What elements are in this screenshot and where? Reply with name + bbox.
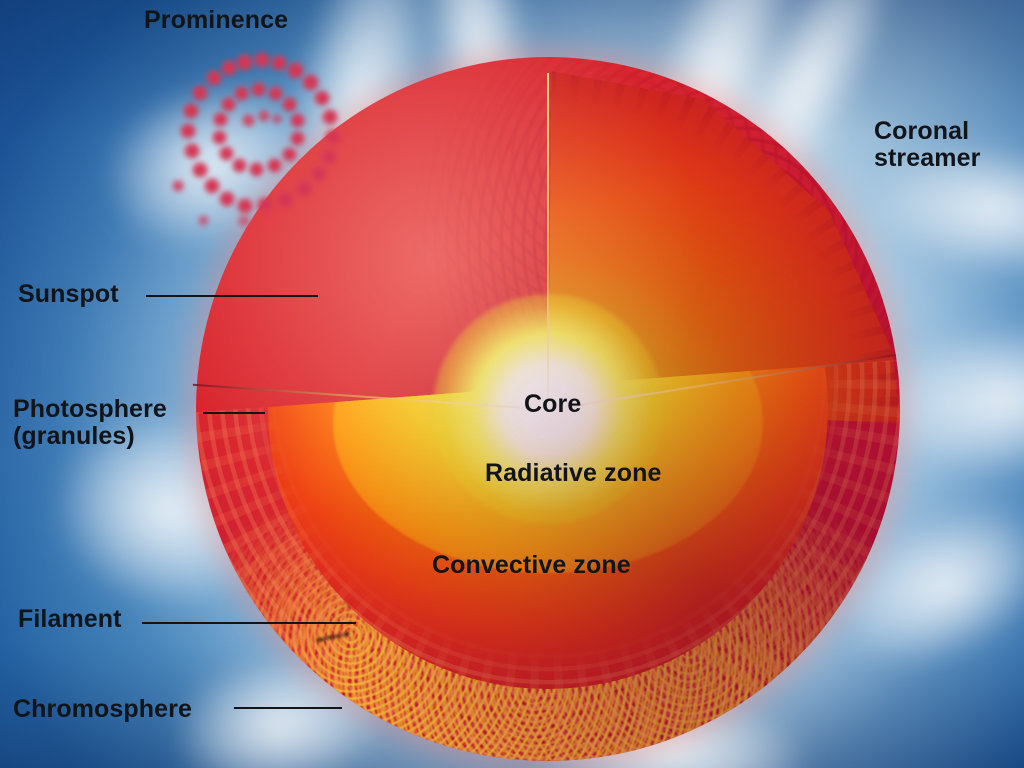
label-photosphere-line2: (granules) (13, 423, 167, 450)
label-core: Core (524, 391, 581, 418)
label-photosphere: Photosphere (granules) (13, 396, 167, 450)
label-filament: Filament (18, 606, 122, 633)
leader-line-chromosphere (234, 707, 342, 709)
label-chromosphere: Chromosphere (13, 696, 192, 723)
label-convective-zone: Convective zone (432, 552, 631, 579)
label-prominence: Prominence (144, 7, 288, 34)
leader-line-sunspot (146, 295, 318, 297)
label-coronal-streamer: Coronal streamer (874, 118, 980, 172)
sun-diagram: Prominence Coronal streamer Sunspot Phot… (0, 0, 1024, 768)
label-sunspot: Sunspot (18, 281, 119, 308)
prominence-feature (178, 52, 343, 227)
leader-line-filament (142, 622, 356, 624)
label-coronal-streamer-line2: streamer (874, 145, 980, 172)
leader-line-photosphere (203, 412, 265, 414)
label-radiative-zone: Radiative zone (485, 460, 661, 487)
label-photosphere-line1: Photosphere (13, 396, 167, 423)
label-coronal-streamer-line1: Coronal (874, 118, 980, 145)
